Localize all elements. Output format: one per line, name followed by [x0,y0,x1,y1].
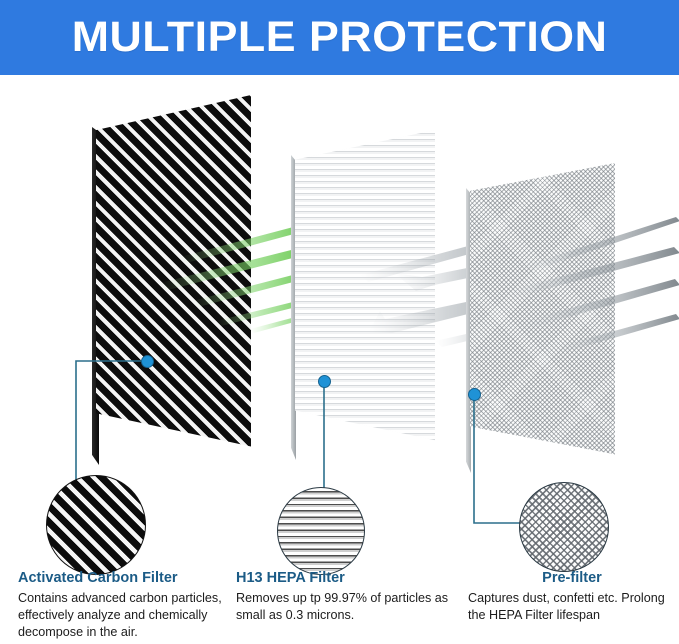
caption-body-hepa: Removes up tp 99.97% of particles as sma… [236,590,461,624]
activated-carbon-filter-panel [96,95,251,465]
filter-diagram [0,75,679,475]
caption-prefilter: Pre-filter Captures dust, confetti etc. … [468,570,676,624]
caption-title-carbon: Activated Carbon Filter [18,570,228,587]
callout-dot-carbon[interactable] [141,355,154,368]
magnifier-hepa [277,487,365,575]
caption-title-hepa: H13 HEPA Filter [236,570,461,587]
caption-body-carbon: Contains advanced carbon particles, effe… [18,590,228,641]
callout-dot-hepa[interactable] [318,375,331,388]
magnifier-prefilter [519,482,609,572]
header-banner: MULTIPLE PROTECTION [0,0,679,75]
page-title: MULTIPLE PROTECTION [72,16,608,59]
callout-dot-prefilter[interactable] [468,388,481,401]
magnifier-activated-carbon [46,475,146,575]
caption-activated-carbon: Activated Carbon Filter Contains advance… [18,570,228,641]
caption-title-prefilter: Pre-filter [468,570,676,587]
infographic-page: MULTIPLE PROTECTION [0,0,679,644]
pre-filter-panel [470,163,615,473]
h13-hepa-filter-panel [295,130,435,460]
caption-hepa: H13 HEPA Filter Removes up tp 99.97% of … [236,570,461,624]
caption-body-prefilter: Captures dust, confetti etc. Prolong the… [468,590,676,624]
